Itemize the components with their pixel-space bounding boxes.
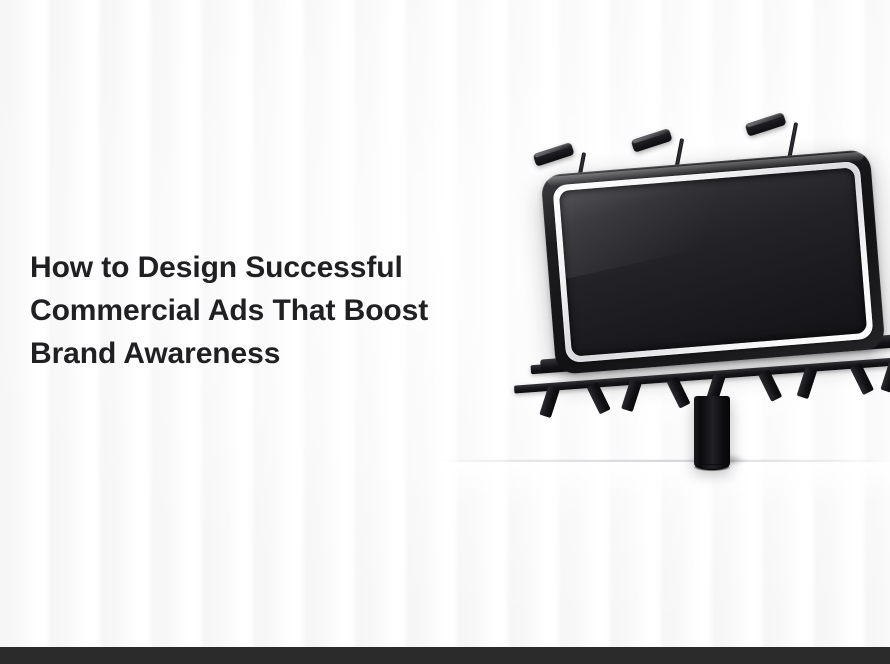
page-root: How to Design Successful Commercial Ads …: [0, 0, 890, 664]
billboard-bezel: [552, 161, 873, 363]
billboard-panel: [541, 149, 886, 375]
page-title: How to Design Successful Commercial Ads …: [30, 246, 510, 375]
truss-brace: [850, 363, 874, 395]
billboard-illustration: [460, 100, 890, 490]
truss-brace: [587, 382, 611, 414]
truss-brace: [666, 376, 690, 408]
support-pole: [694, 396, 730, 468]
truss-brace: [758, 370, 782, 402]
billboard-screen: [559, 167, 867, 356]
ground-sheen: [440, 462, 890, 502]
bottom-bar: [0, 647, 890, 664]
billboard-screen-gloss: [559, 167, 777, 283]
